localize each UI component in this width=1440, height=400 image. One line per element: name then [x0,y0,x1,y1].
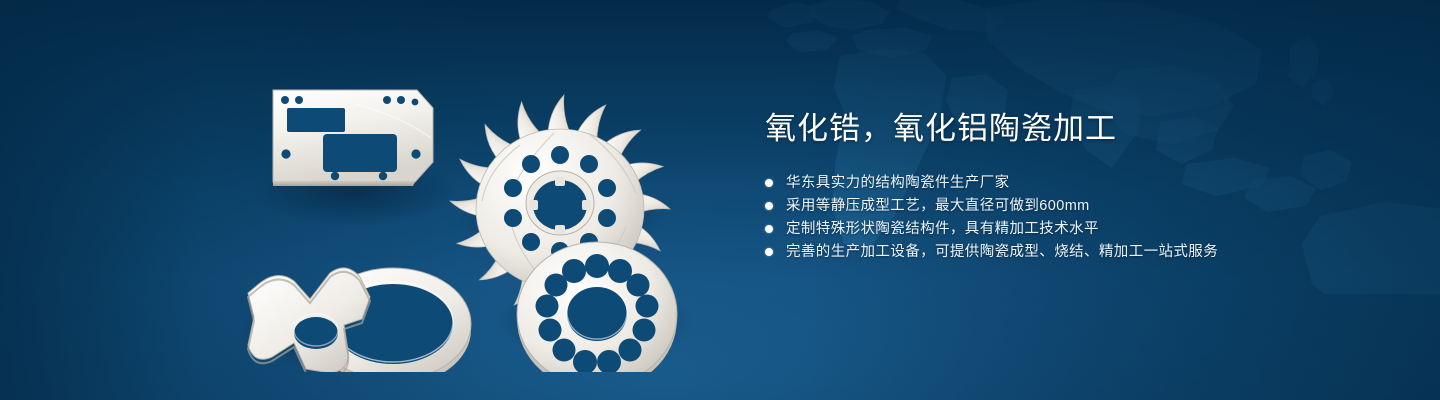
feature-list: 华东具实力的结构陶瓷件生产厂家 采用等静压成型工艺，最大直径可做到600mm 定… [765,172,1385,263]
feature-text: 采用等静压成型工艺，最大直径可做到600mm [786,195,1090,217]
ceramic-plate-part [273,90,433,186]
feature-item: 华东具实力的结构陶瓷件生产厂家 [765,172,1385,194]
product-photo-group [215,42,715,372]
feature-item: 采用等静压成型工艺，最大直径可做到600mm [765,195,1385,217]
promo-banner: 氧化锆，氧化铝陶瓷加工 华东具实力的结构陶瓷件生产厂家 采用等静压成型工艺，最大… [0,0,1440,400]
feature-text: 定制特殊形状陶瓷结构件，具有精加工技术水平 [786,218,1099,240]
bullet-dot-icon [765,179,773,187]
bullet-dot-icon [765,248,773,256]
banner-copy: 氧化锆，氧化铝陶瓷加工 华东具实力的结构陶瓷件生产厂家 采用等静压成型工艺，最大… [765,108,1385,264]
feature-text: 华东具实力的结构陶瓷件生产厂家 [786,172,1010,194]
feature-item: 定制特殊形状陶瓷结构件，具有精加工技术水平 [765,218,1385,240]
bullet-dot-icon [765,225,773,233]
bullet-dot-icon [765,202,773,210]
feature-text: 完善的生产加工设备，可提供陶瓷成型、烧结、精加工一站式服务 [786,241,1218,263]
banner-headline: 氧化锆，氧化铝陶瓷加工 [765,108,1385,150]
feature-item: 完善的生产加工设备，可提供陶瓷成型、烧结、精加工一站式服务 [765,241,1385,263]
